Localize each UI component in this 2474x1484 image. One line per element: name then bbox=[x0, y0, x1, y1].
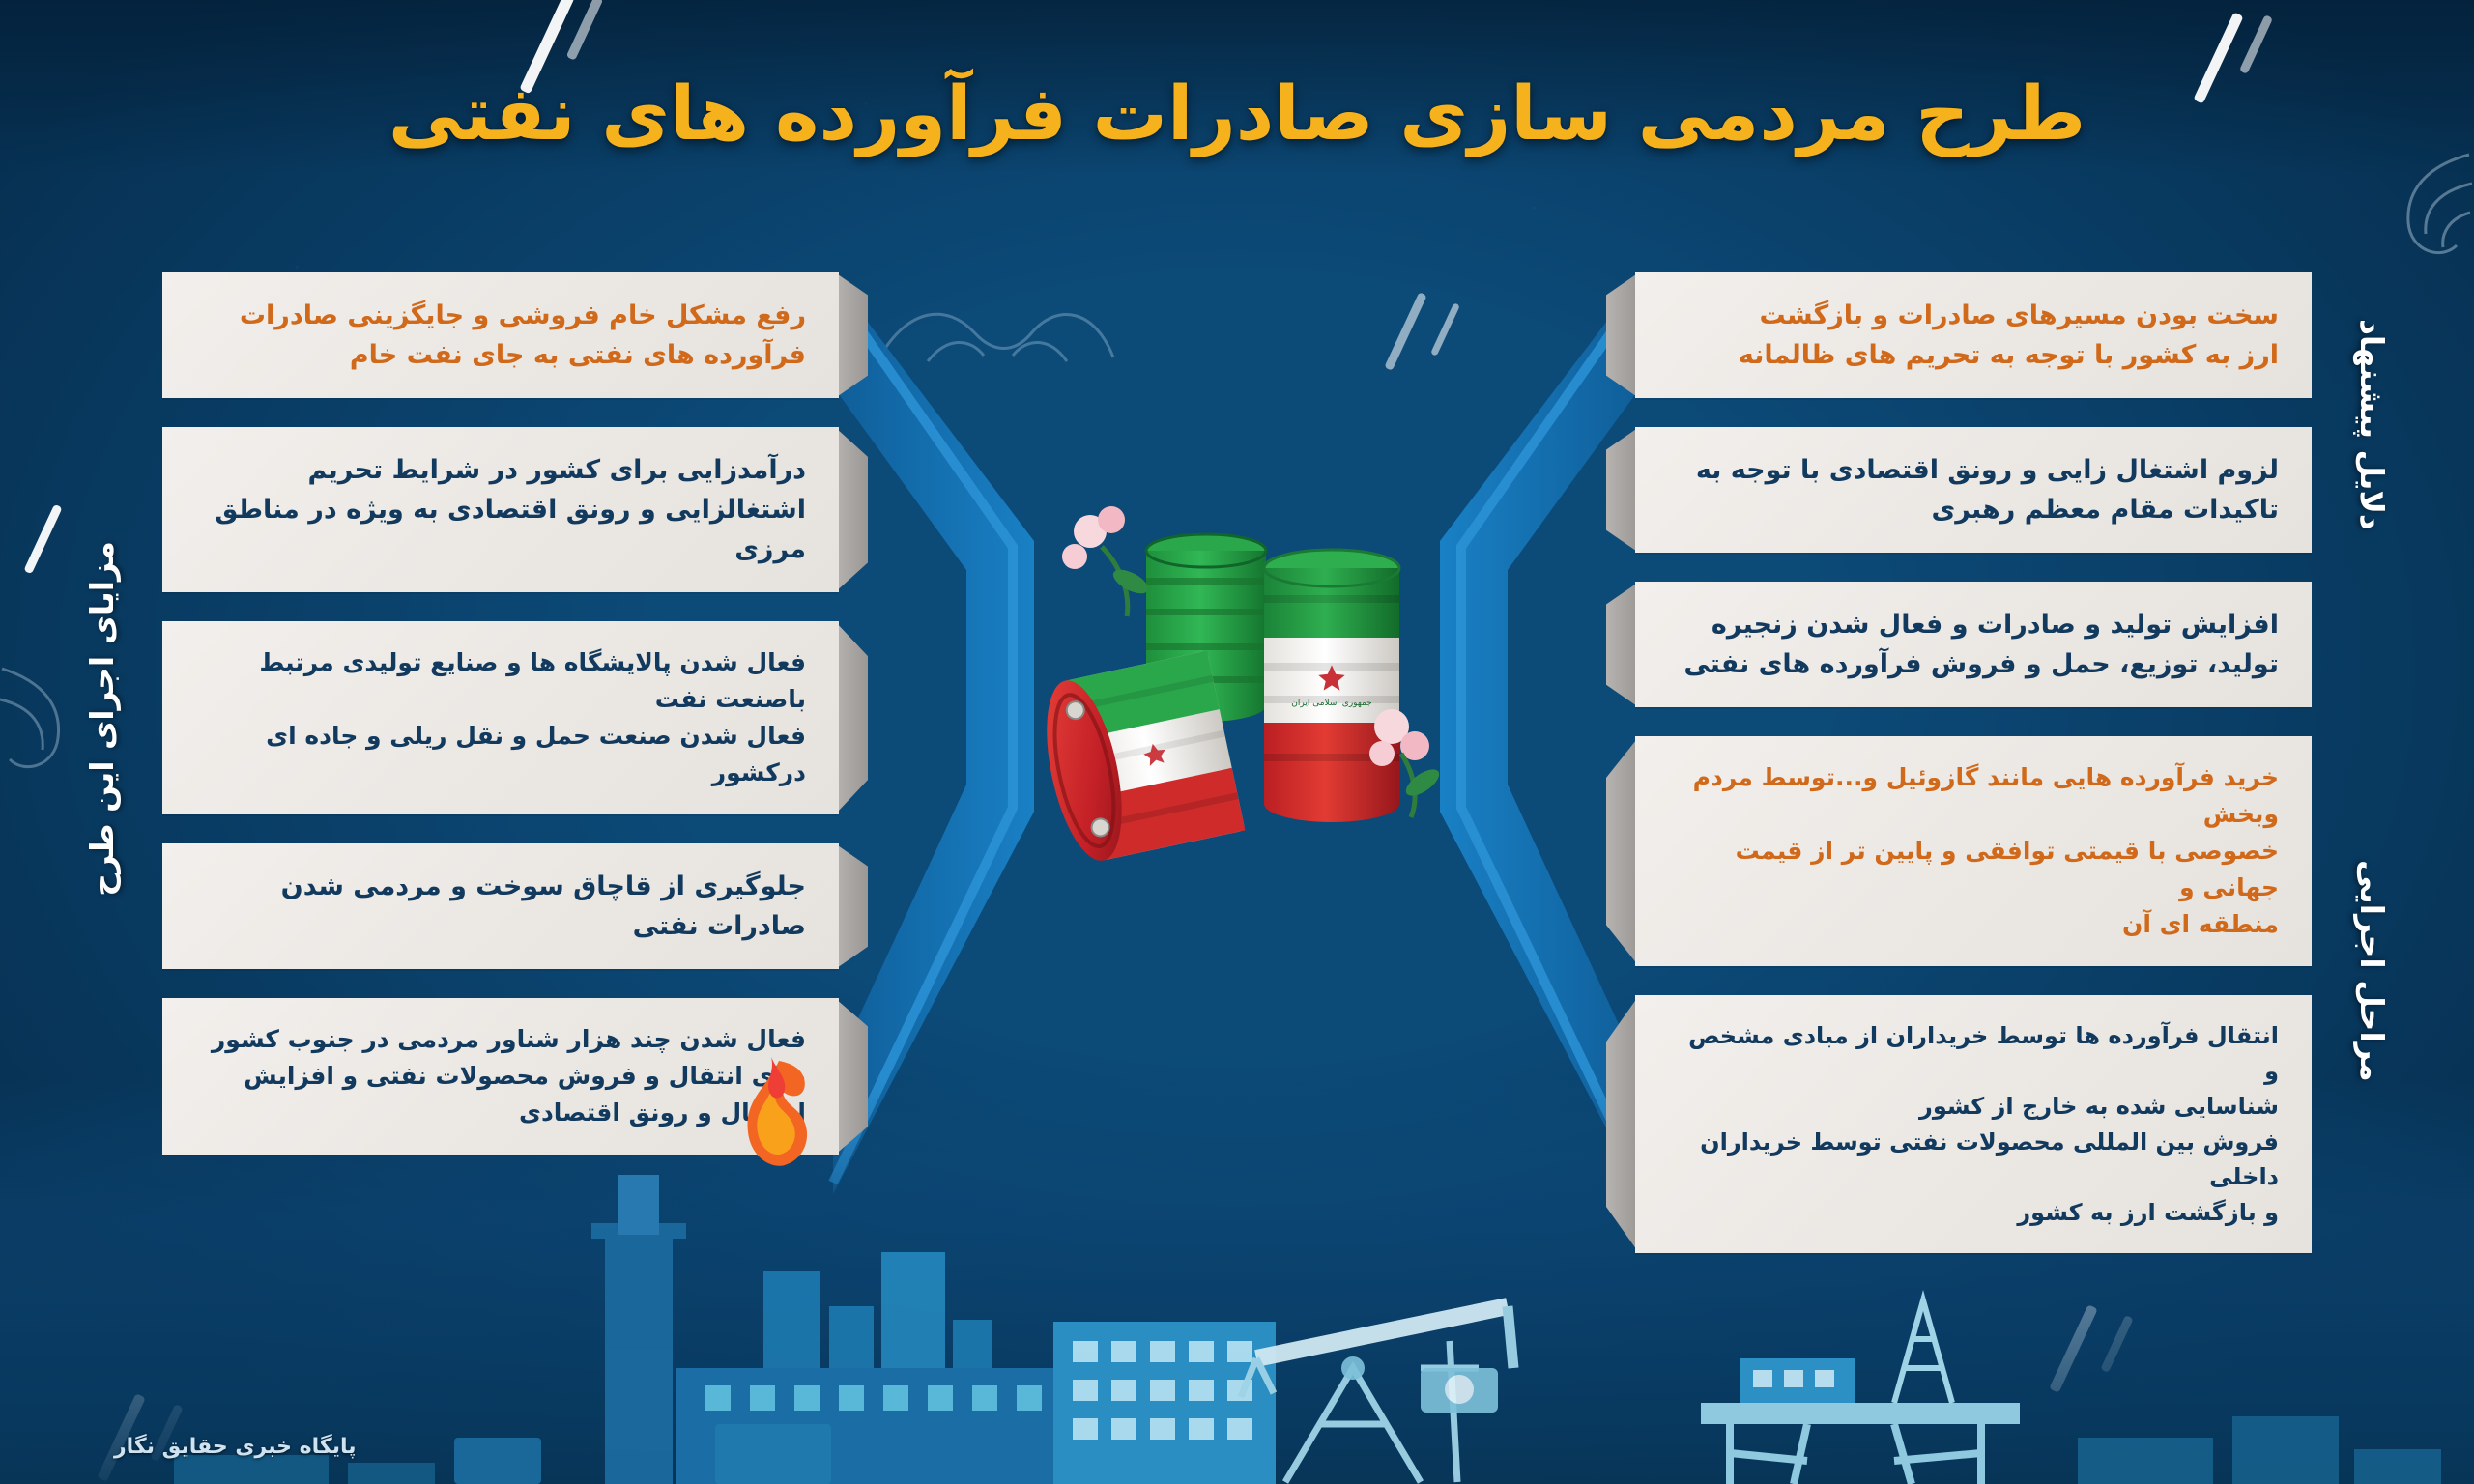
stage-card-3-line-1: انتقال فرآورده ها توسط خریداران از مبادی… bbox=[1668, 1018, 2279, 1089]
benefit-card-4-line-1: جلوگیری از قاچاق سوخت و مردمی شدن bbox=[195, 867, 806, 906]
stage-card-2[interactable]: خرید فرآورده هایی مانند گازوئیل و...توسط… bbox=[1635, 736, 2312, 966]
benefit-card-2[interactable]: درآمدزایی برای کشور در شرایط تحریم اشتغا… bbox=[162, 427, 839, 592]
reason-card-1-line-2: ارز به کشور با توجه به تحریم های ظالمانه bbox=[1668, 335, 2279, 375]
oil-barrels-illustration: جمهوری اسلامی ایران bbox=[986, 464, 1527, 879]
benefit-card-1-line-2: فرآورده های نفتی به جای نفت خام bbox=[195, 335, 806, 375]
reasons-and-stages-column: سخت بودن مسیرهای صادرات و بازگشت ارز به … bbox=[1635, 272, 2312, 1282]
benefit-card-3-line-1: فعال شدن پالایشگاه ها و صنایع تولیدی مرت… bbox=[195, 644, 806, 718]
stage-card-1[interactable]: افزایش تولید و صادرات و فعال شدن زنجیره … bbox=[1635, 582, 2312, 707]
benefit-card-3[interactable]: فعال شدن پالایشگاه ها و صنایع تولیدی مرت… bbox=[162, 621, 839, 814]
benefit-card-4[interactable]: جلوگیری از قاچاق سوخت و مردمی شدن صادرات… bbox=[162, 843, 839, 969]
poster-title-container: طرح مردمی سازی صادرات فرآورده های نفتی bbox=[0, 68, 2474, 163]
source-footer: پایگاه خبری حقایق نگار bbox=[114, 1435, 357, 1459]
section-label-benefits: مزایای اجرای این طرح bbox=[83, 541, 121, 897]
stage-card-2-line-2: خصوصی با قیمتی توافقی و پایین تر از قیمت… bbox=[1668, 833, 2279, 906]
stage-card-3[interactable]: انتقال فرآورده ها توسط خریداران از مبادی… bbox=[1635, 995, 2312, 1253]
flare-flame-icon bbox=[715, 1053, 841, 1179]
reason-card-2[interactable]: لزوم اشتغال زایی و رونق اقتصادی با توجه … bbox=[1635, 427, 2312, 553]
benefit-card-4-line-2: صادرات نفتی bbox=[195, 906, 806, 946]
stage-card-2-line-1: خرید فرآورده هایی مانند گازوئیل و...توسط… bbox=[1668, 759, 2279, 833]
stage-card-3-line-4: و بازگشت ارز به کشور bbox=[1668, 1195, 2279, 1230]
benefits-column: رفع مشکل خام فروشی و جایگزینی صادرات فرآ… bbox=[162, 272, 839, 1184]
reason-card-2-line-2: تاکیدات مقام معظم رهبری bbox=[1668, 490, 2279, 529]
page-title: طرح مردمی سازی صادرات فرآورده های نفتی bbox=[388, 68, 2086, 163]
benefit-card-1[interactable]: رفع مشکل خام فروشی و جایگزینی صادرات فرآ… bbox=[162, 272, 839, 398]
svg-text:جمهوری اسلامی ایران: جمهوری اسلامی ایران bbox=[1291, 699, 1372, 708]
stage-card-1-line-1: افزایش تولید و صادرات و فعال شدن زنجیره bbox=[1668, 605, 2279, 644]
benefit-card-1-line-1: رفع مشکل خام فروشی و جایگزینی صادرات bbox=[195, 296, 806, 335]
reason-card-2-line-1: لزوم اشتغال زایی و رونق اقتصادی با توجه … bbox=[1668, 450, 2279, 490]
reason-card-1-line-1: سخت بودن مسیرهای صادرات و بازگشت bbox=[1668, 296, 2279, 335]
benefit-card-3-line-2: فعال شدن صنعت حمل و نقل ریلی و جاده ای د… bbox=[195, 718, 806, 791]
stage-card-3-line-2: شناسایی شده به خارج از کشور bbox=[1668, 1089, 2279, 1124]
section-label-stages: مراحل اجرایی bbox=[2353, 860, 2391, 1082]
section-label-reasons: دلایل پیشنهاد bbox=[2353, 319, 2391, 530]
reason-card-1[interactable]: سخت بودن مسیرهای صادرات و بازگشت ارز به … bbox=[1635, 272, 2312, 398]
stage-card-1-line-2: تولید، توزیع، حمل و فروش فرآورده های نفت… bbox=[1668, 644, 2279, 684]
stage-card-3-line-3: فروش بین المللی محصولات نفتی توسط خریدار… bbox=[1668, 1125, 2279, 1195]
benefit-card-2-line-2: اشتغالزایی و رونق اقتصادی به ویژه در منا… bbox=[195, 490, 806, 569]
stage-card-2-line-3: منطقه ای آن bbox=[1668, 906, 2279, 943]
benefit-card-2-line-1: درآمدزایی برای کشور در شرایط تحریم bbox=[195, 450, 806, 490]
